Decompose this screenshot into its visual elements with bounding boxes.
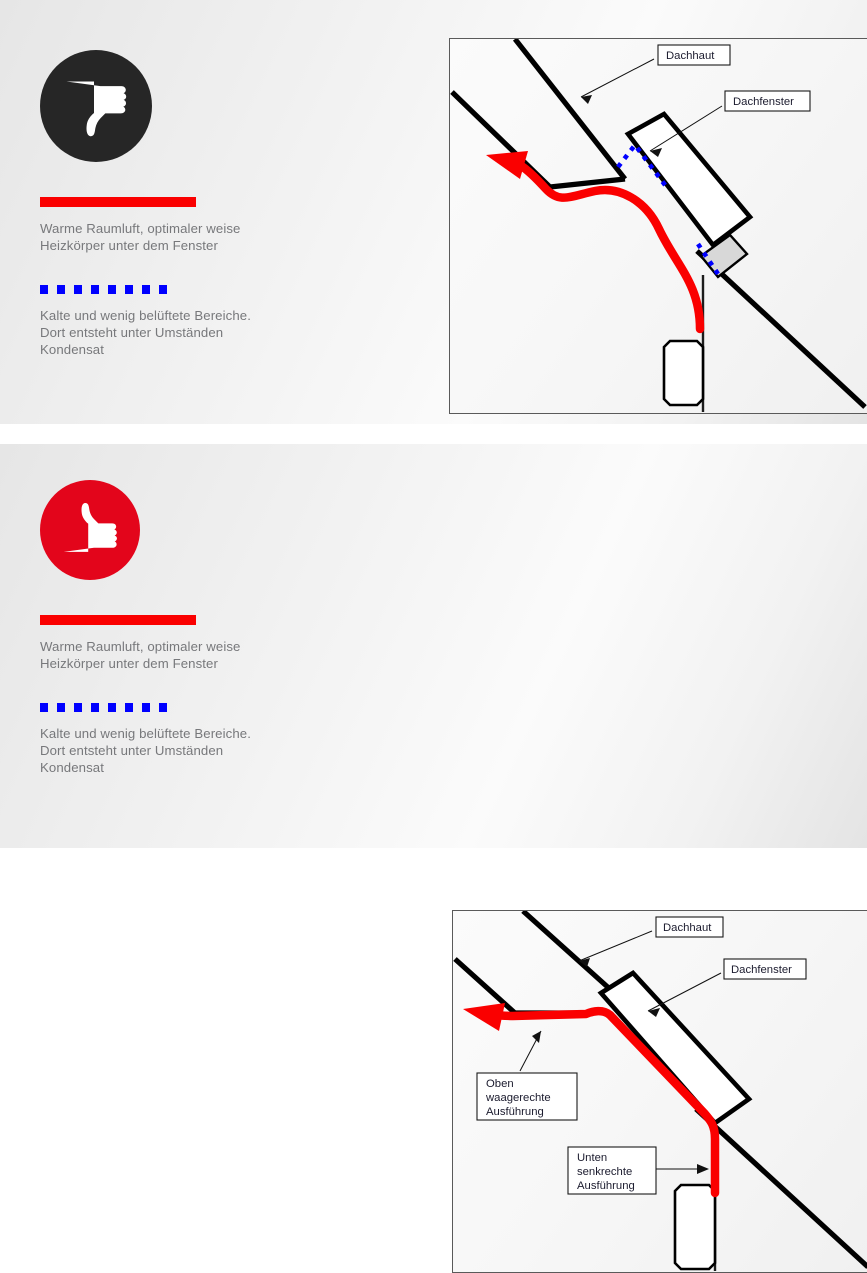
legend-column-positive: Warme Raumluft, optimaler weise Heizkörp… — [40, 480, 370, 776]
legend-swatch-dotted-blue — [40, 703, 173, 712]
legend-column-negative: Warme Raumluft, optimaler weise Heizkörp… — [40, 50, 370, 358]
legend-label-cold-zone: Kalte und wenig belüftete Bereiche. Dort… — [40, 725, 370, 776]
panel-negative-example: Warme Raumluft, optimaler weise Heizkörp… — [0, 0, 867, 424]
legend-item-cold-zone: Kalte und wenig belüftete Bereiche. Dort… — [40, 703, 370, 776]
callout-oben-waagerecht: Oben waagerechte Ausführung — [477, 1031, 577, 1120]
callout-label-oben-line1: Oben — [486, 1078, 514, 1090]
legend-swatch-dotted-blue — [40, 285, 173, 294]
thumbs-down-icon — [40, 50, 370, 167]
legend-swatch-solid-red — [40, 615, 196, 625]
callout-dachfenster: Dachfenster — [648, 959, 806, 1017]
callout-label-unten-line3: Ausführung — [577, 1180, 635, 1192]
callout-dachhaut: Dachhaut — [581, 45, 730, 104]
diagram-positive-roof-window: Dachhaut Dachfenster Oben waagerechte Au… — [452, 910, 867, 1273]
legend-item-warm-air: Warme Raumluft, optimaler weise Heizkörp… — [40, 197, 370, 254]
callout-label-unten-line2: senkrechte — [577, 1166, 632, 1178]
panel-positive-example: Warme Raumluft, optimaler weise Heizkörp… — [0, 444, 867, 848]
legend-label-warm-air: Warme Raumluft, optimaler weise Heizkörp… — [40, 638, 370, 672]
callout-label-dachfenster: Dachfenster — [733, 96, 794, 108]
thumbs-up-icon — [40, 480, 370, 585]
legend-swatch-solid-red — [40, 197, 196, 207]
legend-item-cold-zone: Kalte und wenig belüftete Bereiche. Dort… — [40, 285, 370, 358]
callout-label-dachhaut: Dachhaut — [663, 922, 712, 934]
callout-label-unten-line1: Unten — [577, 1152, 607, 1164]
callout-label-dachhaut: Dachhaut — [666, 50, 715, 62]
page-root: Warme Raumluft, optimaler weise Heizkörp… — [0, 0, 867, 848]
callout-label-dachfenster: Dachfenster — [731, 964, 792, 976]
callout-label-oben-line2: waagerechte — [485, 1092, 551, 1104]
diagram-negative-roof-window: Dachhaut Dachfenster — [449, 38, 867, 414]
legend-item-warm-air: Warme Raumluft, optimaler weise Heizkörp… — [40, 615, 370, 672]
callout-label-oben-line3: Ausführung — [486, 1106, 544, 1118]
callout-dachhaut: Dachhaut — [579, 917, 723, 967]
legend-label-cold-zone: Kalte und wenig belüftete Bereiche. Dort… — [40, 307, 370, 358]
legend-label-warm-air: Warme Raumluft, optimaler weise Heizkörp… — [40, 220, 370, 254]
